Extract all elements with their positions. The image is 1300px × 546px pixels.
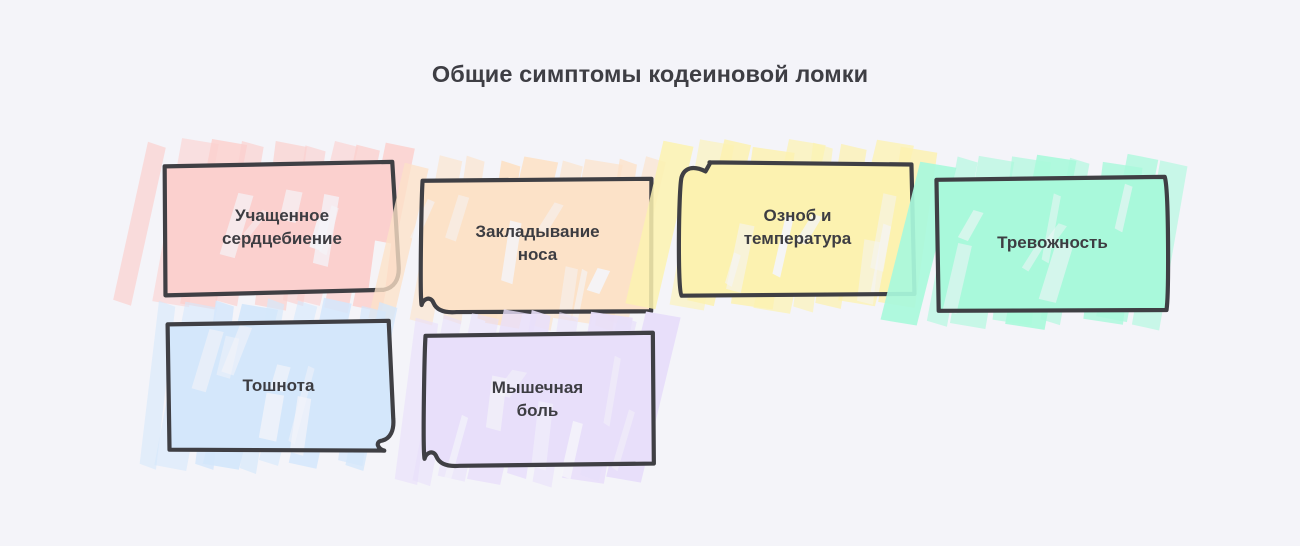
card-fill (421, 179, 652, 312)
symptom-card-oznob-i-temperatura[interactable]: Озноб итемпература (679, 161, 916, 294)
infographic-canvas: Общие симптомы кодеиновой ломки Учащенно… (0, 0, 1300, 546)
symptom-card-trevozhnost[interactable]: Тревожность (936, 177, 1169, 309)
symptom-card-uchashchennoe-serdtsebienie[interactable]: Учащенноесердцебиение (163, 162, 401, 293)
card-sketch (394, 307, 681, 492)
symptom-card-myshechnaya-bol[interactable]: Мышечнаяболь (420, 333, 655, 466)
card-base-fill (165, 162, 399, 296)
card-sketch (910, 151, 1195, 335)
card-base-fill (421, 179, 652, 312)
card-fill (165, 162, 399, 296)
symptom-card-zakladyvanie-nosa[interactable]: Закладываниеноса (420, 178, 655, 310)
symptom-card-toshnota[interactable]: Тошнота (163, 321, 394, 452)
page-title: Общие симптомы кодеиновой ломки (0, 61, 1300, 88)
card-sketch (137, 295, 420, 478)
